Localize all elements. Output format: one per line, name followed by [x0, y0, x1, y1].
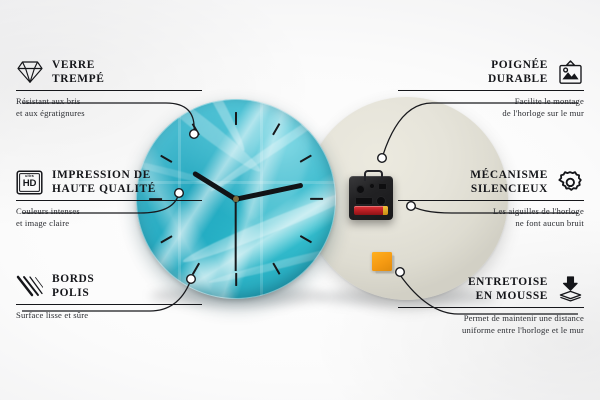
- clock-movement-mechanism: [349, 176, 393, 220]
- movement-dial-2: [369, 183, 375, 189]
- feature-title: IMPRESSION DEHAUTE QUALITÉ: [52, 168, 156, 197]
- hanging-frame-icon: [557, 59, 584, 86]
- feature-bords-polis: BORDSPOLIS Surface lisse et sûre: [16, 272, 202, 321]
- feature-description: Surface lisse et sûre: [16, 309, 202, 321]
- feature-description: Résistant aux briset aux égratignures: [16, 95, 202, 119]
- feature-verre-trempe: VERRETREMPÉ Résistant aux briset aux égr…: [16, 58, 202, 119]
- ultra-hd-icon: ultra HD: [16, 169, 43, 196]
- movement-dial-1: [356, 185, 365, 194]
- foam-spacer-icon: [557, 276, 584, 303]
- movement-hanger-tab: [364, 170, 383, 181]
- feature-title: BORDSPOLIS: [52, 272, 94, 301]
- feature-impression-haute-qualite: ultra HD IMPRESSION DEHAUTE QUALITÉ Coul…: [16, 168, 202, 229]
- infographic-canvas: VERRETREMPÉ Résistant aux briset aux égr…: [0, 0, 600, 400]
- polished-edges-icon: [16, 273, 43, 300]
- divider: [16, 304, 202, 305]
- feature-title: ENTRETOISEEN MOUSSE: [468, 275, 548, 304]
- diamond-icon: [16, 59, 43, 86]
- feature-entretoise-en-mousse: ENTRETOISEEN MOUSSE Permet de maintenir …: [398, 275, 584, 336]
- feature-title: MÉCANISMESILENCIEUX: [470, 168, 548, 197]
- divider: [16, 200, 202, 201]
- feature-title: POIGNÉEDURABLE: [488, 58, 548, 87]
- feature-description: Permet de maintenir une distanceuniforme…: [398, 312, 584, 336]
- feature-poignee-durable: POIGNÉEDURABLE Facilite le montagede l'h…: [398, 58, 584, 119]
- feature-description: Facilite le montagede l'horloge sur le m…: [398, 95, 584, 119]
- divider: [398, 90, 584, 91]
- gear-icon: [557, 169, 584, 196]
- divider: [16, 90, 202, 91]
- feature-description: Les aiguilles de l'horlogene font aucun …: [398, 205, 584, 229]
- divider: [398, 307, 584, 308]
- movement-label: [355, 197, 373, 205]
- battery: [354, 206, 388, 216]
- feature-title: VERRETREMPÉ: [52, 58, 104, 87]
- movement-dial-3: [376, 196, 386, 206]
- ultra-hd-icon-main-label: HD: [16, 178, 43, 189]
- battery-terminal: [383, 206, 388, 216]
- feature-description: Couleurs intenseset image claire: [16, 205, 202, 229]
- feature-mecanisme-silencieux: MÉCANISMESILENCIEUX Les aiguilles de l'h…: [398, 168, 584, 229]
- movement-port: [378, 183, 387, 190]
- divider: [398, 200, 584, 201]
- foam-spacer: [372, 252, 392, 271]
